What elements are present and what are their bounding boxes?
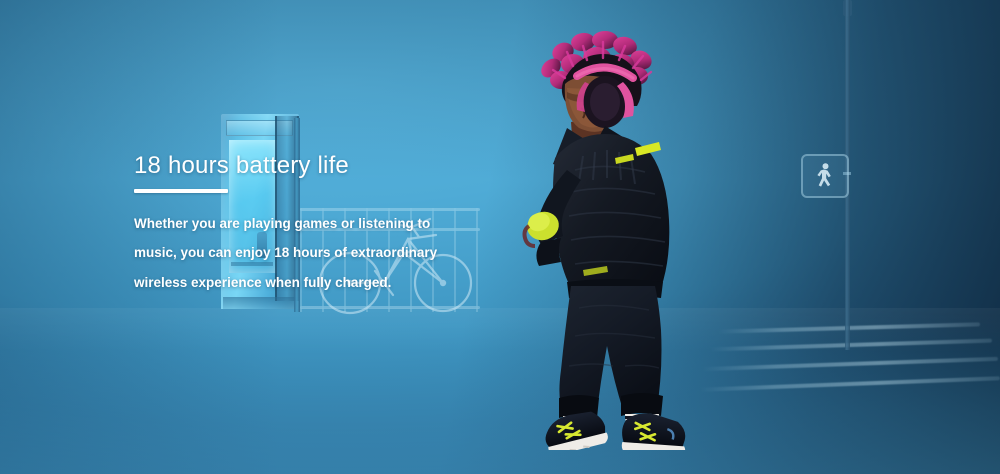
hero-text-block: 18 hours battery life Whether you are pl… [134, 152, 464, 298]
hero-banner: 18 hours battery life Whether you are pl… [0, 0, 1000, 474]
pedestrian-crossing-icon [801, 154, 849, 198]
crosswalk-stripes [700, 318, 1000, 398]
title-divider [134, 189, 228, 193]
hero-description: Whether you are playing games or listeni… [134, 209, 454, 298]
page-title: 18 hours battery life [134, 152, 464, 180]
person-walking-with-headphones [455, 30, 735, 450]
